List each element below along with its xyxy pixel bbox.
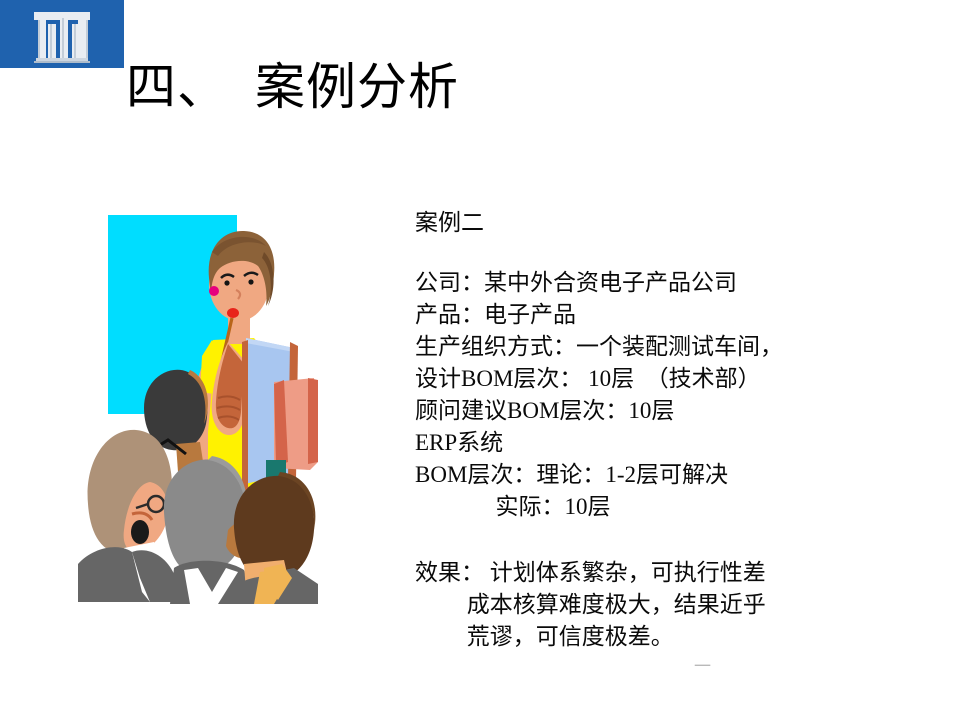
meeting-scene-illustration bbox=[78, 212, 318, 604]
gate-pillars-icon bbox=[30, 8, 94, 64]
case-line-erp-system: ERP系统 bbox=[415, 427, 945, 459]
case-line-effect-1: 效果： 计划体系繁杂，可执行性差 bbox=[415, 557, 945, 589]
case-line-bom-actual: 实际：10层 bbox=[415, 491, 945, 523]
case-body-text: 案例二 公司：某中外合资电子产品公司 产品：电子产品 生产组织方式：一个装配测试… bbox=[415, 207, 945, 653]
stray-artifact-glyph: 一 bbox=[694, 652, 711, 677]
case-line-company: 公司：某中外合资电子产品公司 bbox=[415, 267, 945, 299]
text-spacer bbox=[415, 239, 945, 267]
presenter-lips bbox=[227, 308, 239, 318]
case-line-bom-theory: BOM层次：理论：1-2层可解决 bbox=[415, 459, 945, 491]
institution-gate-logo bbox=[0, 0, 124, 68]
title-divider bbox=[0, 155, 960, 156]
case-line-design-bom: 设计BOM层次： 10层 （技术部） bbox=[415, 363, 945, 395]
slide-canvas: 四、 案例分析 bbox=[0, 0, 960, 720]
case-line-product: 产品：电子产品 bbox=[415, 299, 945, 331]
business-meeting-presentation-clipart bbox=[78, 212, 318, 604]
case-heading: 案例二 bbox=[415, 207, 945, 239]
page-title: 四、 案例分析 bbox=[126, 62, 459, 112]
presenter-earring bbox=[209, 286, 219, 296]
case-line-effect-3: 荒谬，可信度极差。 bbox=[415, 621, 945, 653]
case-line-effect-2: 成本核算难度极大，结果近乎 bbox=[415, 589, 945, 621]
audience-mouth bbox=[131, 520, 149, 544]
case-line-consultant-bom: 顾问建议BOM层次：10层 bbox=[415, 395, 945, 427]
text-spacer bbox=[415, 523, 945, 557]
binder-edge bbox=[242, 340, 248, 490]
case-line-production-mode: 生产组织方式：一个装配测试车间， bbox=[415, 331, 945, 363]
